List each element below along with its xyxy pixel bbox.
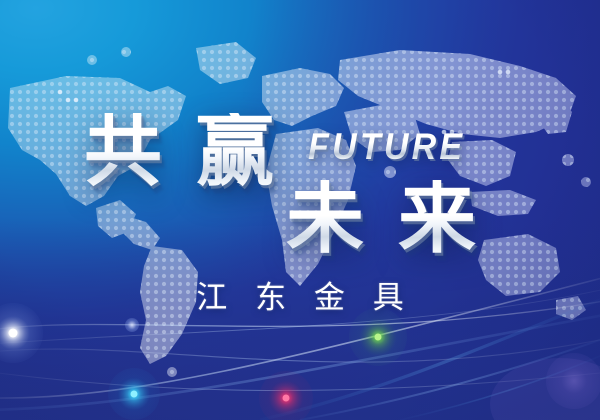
- headline-group: 共 赢 FUTURE 未 来 江 东 金 具: [0, 0, 600, 420]
- company-name-subtitle: 江 东 金 具: [0, 272, 600, 317]
- headline-char-ying: 赢: [196, 113, 274, 191]
- headline-char-lai: 来: [398, 180, 476, 258]
- promotional-banner: 共 赢 FUTURE 未 来 江 东 金 具: [0, 0, 600, 420]
- headline-future-word: FUTURE: [308, 128, 465, 165]
- headline-char-wei: 未: [286, 180, 364, 258]
- headline-char-gong: 共: [84, 113, 162, 191]
